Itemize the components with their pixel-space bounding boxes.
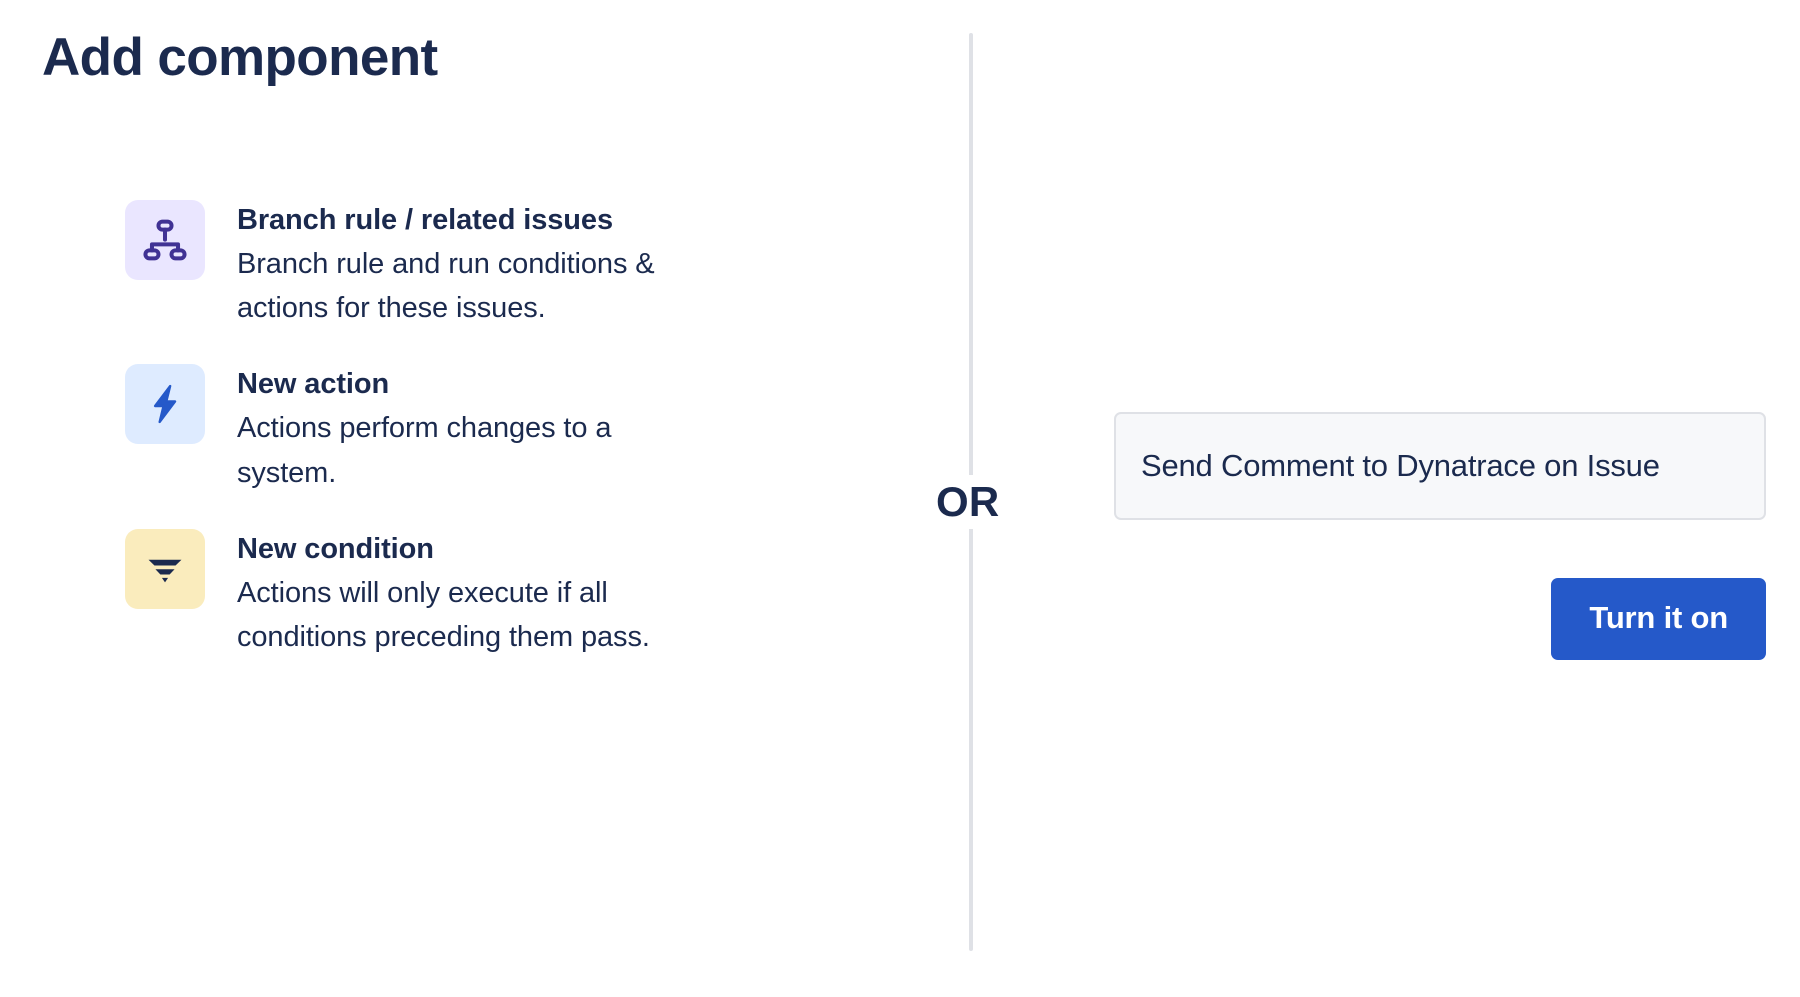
turn-it-on-button[interactable]: Turn it on [1551, 578, 1766, 660]
or-separator-label: OR [930, 475, 1005, 529]
component-option-branch-rule[interactable]: Branch rule / related issues Branch rule… [125, 200, 765, 330]
component-option-title: Branch rule / related issues [237, 201, 717, 240]
component-option-new-action[interactable]: New action Actions perform changes to a … [125, 364, 765, 494]
component-option-text: New condition Actions will only execute … [237, 529, 717, 659]
component-options-list: Branch rule / related issues Branch rule… [125, 200, 765, 659]
filter-funnel-icon [125, 529, 205, 609]
rule-name-input[interactable] [1114, 412, 1766, 520]
sitemap-icon [125, 200, 205, 280]
component-option-text: Branch rule / related issues Branch rule… [237, 200, 717, 330]
component-option-description: Branch rule and run conditions & actions… [237, 242, 717, 330]
component-option-description: Actions perform changes to a system. [237, 406, 717, 494]
lightning-bolt-icon [125, 364, 205, 444]
component-option-description: Actions will only execute if all conditi… [237, 571, 717, 659]
rule-activation-panel: Turn it on [1114, 412, 1766, 660]
page-title: Add component [42, 28, 438, 89]
turn-on-button-row: Turn it on [1114, 578, 1766, 660]
component-option-text: New action Actions perform changes to a … [237, 364, 717, 494]
component-option-new-condition[interactable]: New condition Actions will only execute … [125, 529, 765, 659]
component-option-title: New condition [237, 530, 717, 569]
component-option-title: New action [237, 365, 717, 404]
add-component-screen: Add component Branch rule / related issu… [0, 0, 1800, 997]
